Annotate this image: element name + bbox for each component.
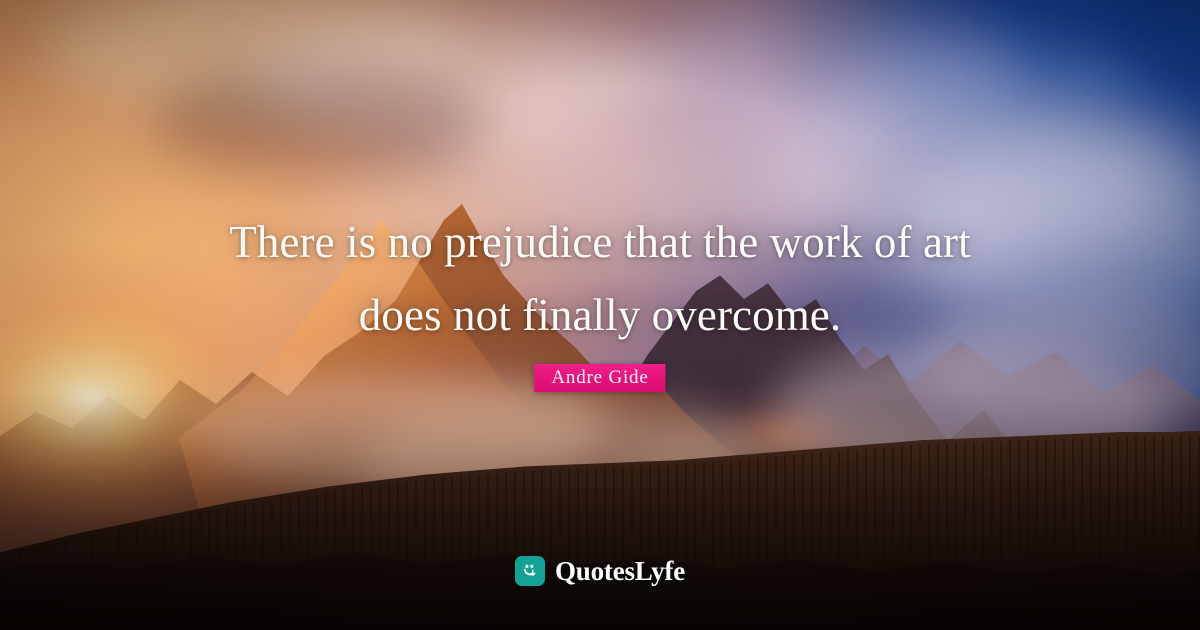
brand-logo: QuotesLyfe — [515, 556, 685, 586]
content-overlay: There is no prejudice that the work of a… — [0, 0, 1200, 630]
quote-image-card: There is no prejudice that the work of a… — [0, 0, 1200, 630]
quote-mark-icon — [515, 556, 545, 586]
brand-name: QuotesLyfe — [555, 556, 685, 586]
author-badge: Andre Gide — [534, 364, 665, 392]
quote-text: There is no prejudice that the work of a… — [0, 206, 1200, 352]
